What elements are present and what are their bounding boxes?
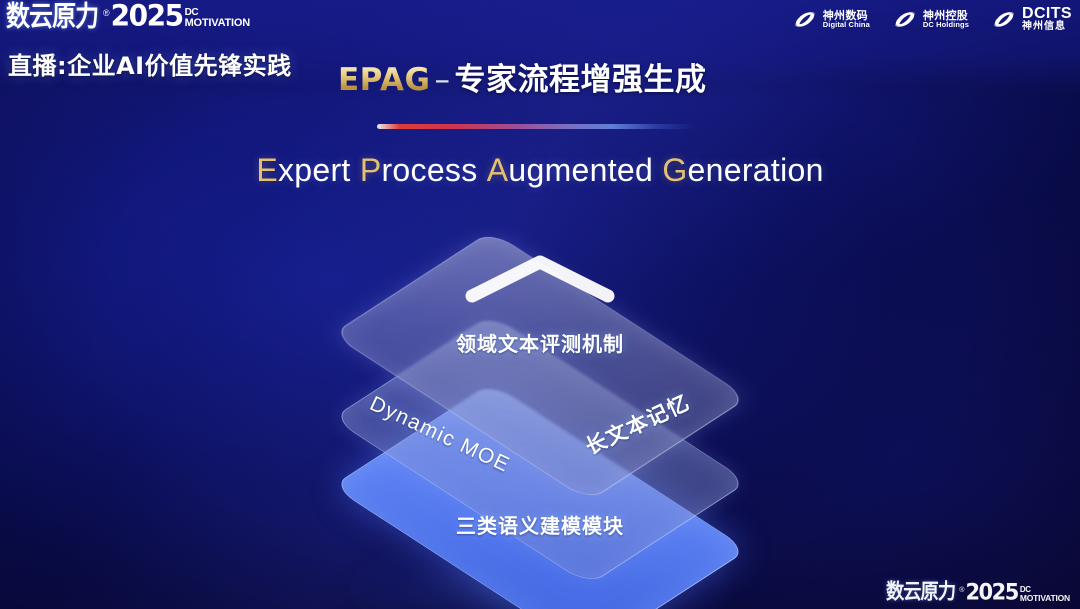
swirl-icon <box>792 8 818 30</box>
chevron-up-icon <box>464 252 616 304</box>
swirl-icon <box>991 8 1017 30</box>
brand-registered-mark: ® <box>103 9 110 18</box>
brand-dc-motivation: DC MOTIVATION <box>185 8 250 29</box>
partner-text: 神州控股 DC Holdings <box>923 10 969 29</box>
subtitle-rest-expert: xpert <box>278 152 351 188</box>
stack-layer-top[interactable] <box>270 216 810 556</box>
footer-brand-dc-motivation: DC MOTIVATION <box>1020 586 1070 603</box>
stack-label-bottom: 三类语义建模模块 <box>456 510 624 539</box>
partner-text: 神州数码 Digital China <box>823 10 870 29</box>
partner-name-en: Digital China <box>823 21 870 29</box>
subtitle-cap-g: G <box>662 152 687 188</box>
title-divider <box>377 124 695 129</box>
brand-name-cn: 数云原力 <box>6 2 98 30</box>
swirl-icon <box>892 8 918 30</box>
page-subtitle: Expert Process Augmented Generation <box>0 152 1080 189</box>
layered-architecture-diagram: 领域文本评测机制 Dynamic MOE 长文本记忆 三类语义建模模块 <box>270 228 810 568</box>
footer-brand-motivation-label: MOTIVATION <box>1020 594 1070 603</box>
partner-name-en: DC Holdings <box>923 21 969 29</box>
title-chinese: 专家流程增强生成 <box>455 62 707 98</box>
partner-name-en: DCITS <box>1022 6 1072 22</box>
stack-label-top: 领域文本评测机制 <box>456 328 624 357</box>
title-acronym: EPAG <box>338 62 431 98</box>
footer-brand-registered-mark: ® <box>959 587 964 594</box>
brand-lockup: 数云原力 ® 2025 DC MOTIVATION <box>6 2 250 30</box>
partner-logo-digital-china: 神州数码 Digital China <box>792 8 870 30</box>
partner-logo-group: 神州数码 Digital China 神州控股 DC Holdings <box>792 6 1072 33</box>
title-dash: – <box>431 62 455 98</box>
brand-year: 2025 <box>111 1 183 30</box>
slide-canvas: 数云原力 ® 2025 DC MOTIVATION 直播:企业AI价值先锋实践 … <box>0 0 1080 609</box>
footer-watermark: 数云原力 ® 2025 DC MOTIVATION <box>886 582 1070 603</box>
subtitle-cap-a: A <box>487 152 509 188</box>
subtitle-cap-p: P <box>360 152 382 188</box>
subtitle-rest-process: rocess <box>381 152 477 188</box>
subtitle-rest-augmented: ugmented <box>508 152 653 188</box>
live-stream-title: 直播:企业AI价值先锋实践 <box>8 46 292 81</box>
brand-motivation-label: MOTIVATION <box>185 18 250 29</box>
partner-logo-dc-holdings: 神州控股 DC Holdings <box>892 8 969 30</box>
subtitle-rest-generation: eneration <box>688 152 824 188</box>
page-title: EPAG–专家流程增强生成 <box>338 54 707 99</box>
subtitle-cap-e: E <box>256 152 278 188</box>
partner-logo-dcits: DCITS 神州信息 <box>991 6 1072 33</box>
partner-text: DCITS 神州信息 <box>1022 6 1072 33</box>
footer-brand-year: 2025 <box>965 581 1017 603</box>
partner-name-cn: 神州信息 <box>1022 22 1072 33</box>
footer-brand-name-cn: 数云原力 <box>886 582 955 603</box>
